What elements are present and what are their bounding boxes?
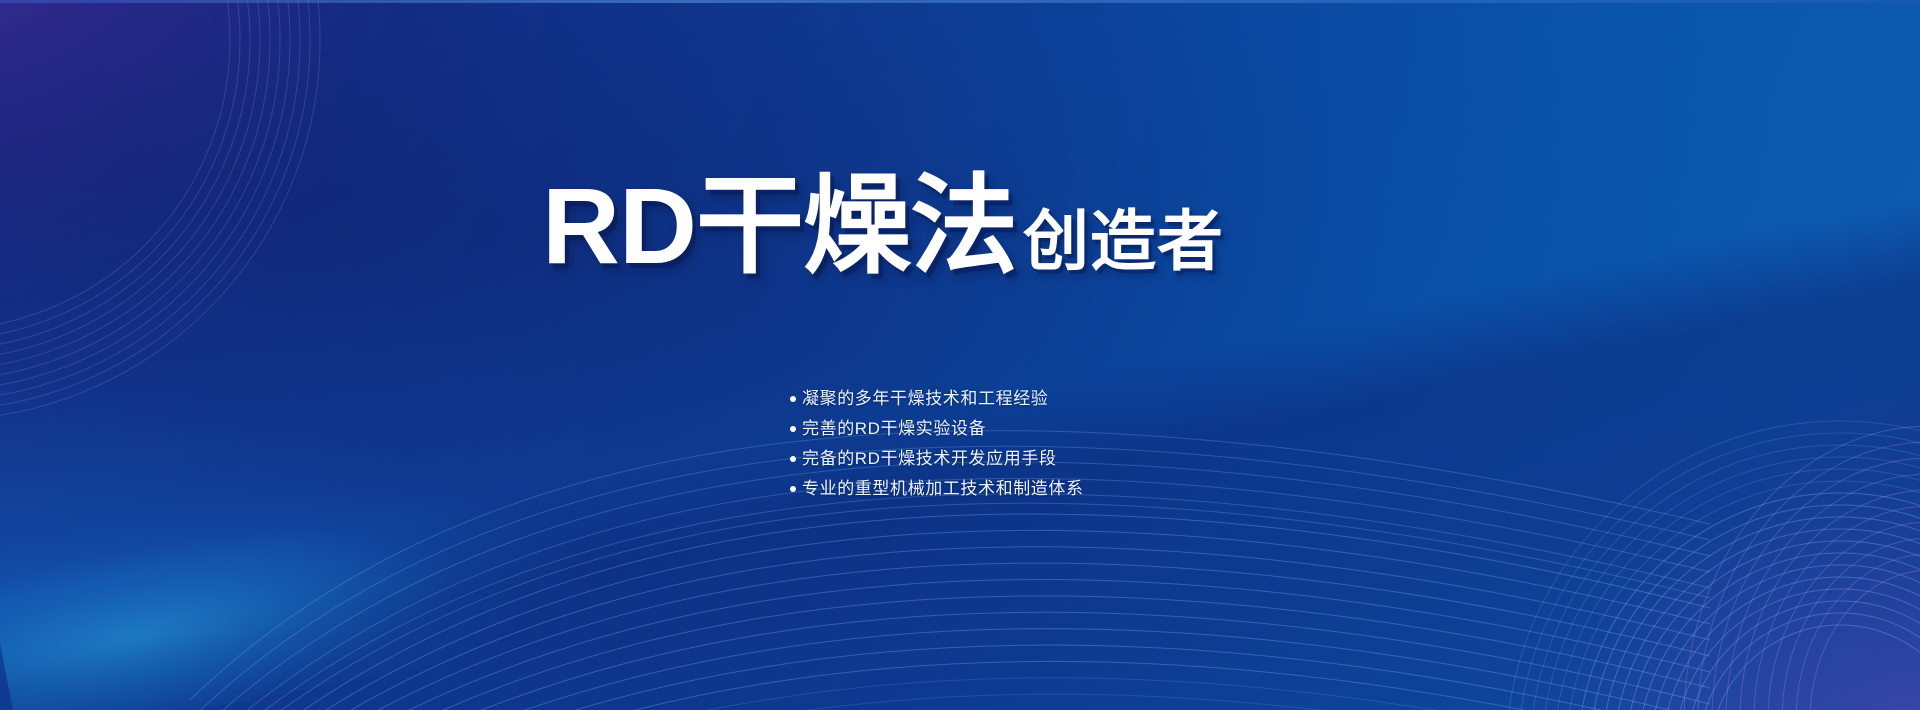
- bullet-dot-icon: [790, 456, 796, 462]
- bullet-dot-icon: [790, 396, 796, 402]
- feature-bullet-list: 凝聚的多年干燥技术和工程经验 完善的RD干燥实验设备 完备的RD干燥技术开发应用…: [790, 384, 1084, 504]
- headline-sub-text: 创造者: [1023, 208, 1224, 280]
- bullet-label: 专业的重型机械加工技术和制造体系: [802, 474, 1084, 504]
- promo-banner: RD干燥法 创造者 凝聚的多年干燥技术和工程经验 完善的RD干燥实验设备 完备的…: [0, 0, 1920, 710]
- bullet-label: 完善的RD干燥实验设备: [802, 414, 986, 444]
- bullet-label: 完备的RD干燥技术开发应用手段: [802, 444, 1057, 474]
- bullet-label: 凝聚的多年干燥技术和工程经验: [802, 384, 1048, 414]
- list-item: 完备的RD干燥技术开发应用手段: [790, 444, 1084, 474]
- bullet-dot-icon: [790, 426, 796, 432]
- headline-main-text: RD干燥法: [542, 172, 1017, 280]
- list-item: 凝聚的多年干燥技术和工程经验: [790, 384, 1084, 414]
- bullet-dot-icon: [790, 486, 796, 492]
- list-item: 完善的RD干燥实验设备: [790, 414, 1084, 444]
- page-title: RD干燥法 创造者: [542, 172, 1224, 280]
- list-item: 专业的重型机械加工技术和制造体系: [790, 474, 1084, 504]
- banner-content: RD干燥法 创造者 凝聚的多年干燥技术和工程经验 完善的RD干燥实验设备 完备的…: [0, 0, 1920, 710]
